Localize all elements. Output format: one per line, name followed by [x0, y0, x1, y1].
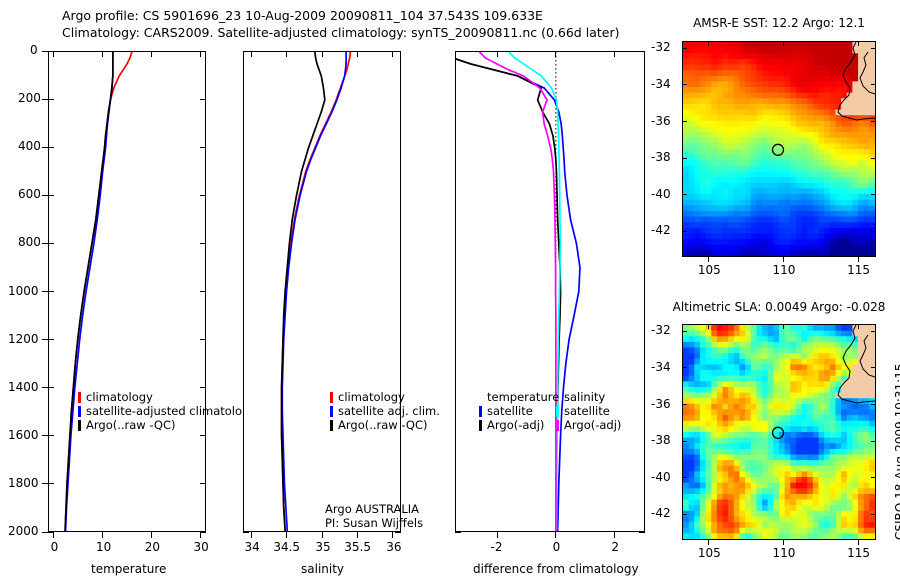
legend-swatch-climatology — [78, 392, 81, 403]
map-cell — [711, 115, 717, 121]
map-cell — [830, 183, 836, 189]
map-cell — [683, 93, 689, 99]
map-cell — [700, 505, 706, 511]
map-cell — [762, 104, 768, 110]
map-cell — [864, 471, 870, 477]
map-cell — [796, 404, 802, 410]
map-cell — [762, 477, 768, 483]
map-cell — [723, 98, 729, 104]
map-cell — [751, 126, 757, 132]
map-cell — [728, 188, 734, 194]
map-cell — [858, 500, 864, 506]
map-cell — [756, 81, 762, 87]
map-cell — [717, 516, 723, 522]
map-cell — [807, 359, 813, 365]
map-cell — [830, 70, 836, 76]
map-cell — [813, 200, 819, 206]
map-cell — [683, 421, 689, 427]
map-cell — [852, 364, 858, 370]
map-cell — [813, 98, 819, 104]
map-cell — [864, 233, 870, 239]
map-cell — [824, 359, 830, 365]
map-cell — [835, 376, 841, 382]
map-cell — [819, 166, 825, 172]
map-cell — [869, 138, 875, 144]
map-cell — [762, 59, 768, 65]
map-cell — [841, 494, 847, 500]
temperature-axis-label: temperature — [91, 562, 166, 576]
map-cell — [762, 188, 768, 194]
map-cell — [706, 65, 712, 71]
map-cell — [728, 393, 734, 399]
map-cell — [779, 205, 785, 211]
map-cell — [694, 70, 700, 76]
map-cell — [847, 183, 853, 189]
map-cell — [813, 471, 819, 477]
map-cell — [734, 211, 740, 217]
map-cell — [768, 121, 774, 127]
map-cell — [751, 421, 757, 427]
map-y-tick-label: -42 — [651, 223, 671, 237]
map-cell — [790, 381, 796, 387]
map-cell — [694, 421, 700, 427]
map-cell — [813, 477, 819, 483]
map-cell — [864, 533, 870, 539]
map-cell — [745, 376, 751, 382]
map-cell — [864, 166, 870, 172]
map-cell — [739, 505, 745, 511]
map-cell — [728, 53, 734, 59]
map-x-tick-top — [708, 324, 709, 329]
map-cell — [773, 449, 779, 455]
map-cell — [869, 53, 875, 59]
map-cell — [813, 104, 819, 110]
map-cell — [841, 421, 847, 427]
map-cell — [745, 143, 751, 149]
map-cell — [813, 143, 819, 149]
map-cell — [728, 81, 734, 87]
map-cell — [796, 228, 802, 234]
map-cell — [700, 228, 706, 234]
map-cell — [700, 194, 706, 200]
map-cell — [869, 522, 875, 528]
map-cell — [773, 217, 779, 223]
map-cell — [858, 438, 864, 444]
depth-tick-inner — [48, 291, 54, 292]
map-cell — [835, 455, 841, 461]
map-cell — [768, 87, 774, 93]
map-cell — [824, 387, 830, 393]
map-cell — [802, 409, 808, 415]
map-cell — [824, 393, 830, 399]
map-cell — [802, 138, 808, 144]
map-cell — [762, 76, 768, 82]
map-cell — [751, 342, 757, 348]
map-cell — [717, 409, 723, 415]
map-cell — [728, 245, 734, 251]
map-cell — [689, 59, 695, 65]
map-cell — [813, 155, 819, 161]
map-cell — [706, 250, 712, 256]
map-cell — [847, 70, 853, 76]
map-cell — [813, 177, 819, 183]
map-cell — [864, 81, 870, 87]
map-cell — [830, 460, 836, 466]
map-cell — [756, 387, 762, 393]
map-cell — [779, 121, 785, 127]
map-cell — [841, 121, 847, 127]
map-cell — [768, 228, 774, 234]
map-cell — [734, 477, 740, 483]
map-cell — [773, 381, 779, 387]
map-cell — [785, 466, 791, 472]
map-cell — [739, 432, 745, 438]
map-cell — [830, 477, 836, 483]
map-cell — [683, 233, 689, 239]
map-cell — [802, 121, 808, 127]
legend-item: Argo(..raw -QC) — [78, 418, 213, 432]
map-cell — [824, 126, 830, 132]
map-cell — [835, 415, 841, 421]
map-cell — [768, 239, 774, 245]
map-cell — [745, 488, 751, 494]
map-cell — [717, 415, 723, 421]
map-cell — [762, 53, 768, 59]
map-cell — [819, 533, 825, 539]
map-cell — [723, 432, 729, 438]
map-cell — [830, 87, 836, 93]
salinity-panel[interactable] — [243, 51, 401, 532]
map-cell — [796, 359, 802, 365]
map-cell — [835, 143, 841, 149]
map-cell — [768, 516, 774, 522]
map-cell — [734, 87, 740, 93]
map-cell — [813, 70, 819, 76]
map-cell — [869, 143, 875, 149]
map-cell — [689, 353, 695, 359]
map-cell — [700, 342, 706, 348]
map-cell — [813, 65, 819, 71]
map-cell — [802, 143, 808, 149]
map-cell — [835, 87, 841, 93]
map-cell — [841, 404, 847, 410]
map-cell — [824, 477, 830, 483]
map-cell — [835, 398, 841, 404]
map-cell — [751, 409, 757, 415]
map-cell — [802, 233, 808, 239]
map-cell — [694, 505, 700, 511]
sla-map[interactable] — [682, 324, 876, 540]
map-cell — [745, 533, 751, 539]
map-cell — [762, 398, 768, 404]
map-cell — [847, 149, 853, 155]
map-cell — [745, 426, 751, 432]
map-cell — [802, 438, 808, 444]
map-cell — [841, 200, 847, 206]
difference-axis-label: difference from climatology — [473, 562, 639, 576]
map-cell — [773, 393, 779, 399]
map-cell — [807, 533, 813, 539]
sst-map[interactable] — [682, 41, 876, 257]
map-cell — [852, 438, 858, 444]
map-cell — [728, 177, 734, 183]
map-cell — [864, 387, 870, 393]
map-cell — [689, 53, 695, 59]
map-cell — [779, 250, 785, 256]
map-cell — [706, 364, 712, 370]
map-cell — [728, 516, 734, 522]
map-cell — [734, 104, 740, 110]
map-cell — [706, 528, 712, 534]
map-cell — [830, 115, 836, 121]
map-cell — [852, 205, 858, 211]
map-cell — [790, 336, 796, 342]
map-cell — [807, 471, 813, 477]
map-cell — [824, 138, 830, 144]
map-cell — [864, 477, 870, 483]
map-cell — [694, 359, 700, 365]
map-cell — [745, 477, 751, 483]
map-cell — [706, 494, 712, 500]
map-cell — [852, 160, 858, 166]
map-cell — [711, 211, 717, 217]
map-cell — [711, 404, 717, 410]
map-cell — [700, 239, 706, 245]
map-cell — [689, 522, 695, 528]
map-cell — [773, 488, 779, 494]
map-cell — [734, 466, 740, 472]
map-cell — [762, 505, 768, 511]
map-cell — [773, 353, 779, 359]
map-cell — [689, 121, 695, 127]
map-cell — [802, 336, 808, 342]
temperature-panel[interactable] — [48, 51, 206, 532]
map-cell — [779, 404, 785, 410]
depth-tick-inner — [48, 195, 54, 196]
map-cell — [689, 143, 695, 149]
x-tick — [200, 532, 201, 538]
depth-tick-mirror — [200, 387, 206, 388]
legend-swatch-argo — [330, 420, 333, 431]
map-cell — [819, 194, 825, 200]
map-cell — [790, 143, 796, 149]
map-cell — [807, 516, 813, 522]
map-cell — [824, 533, 830, 539]
map-cell — [751, 233, 757, 239]
map-cell — [841, 222, 847, 228]
map-y-tick — [682, 477, 687, 478]
map-cell — [847, 511, 853, 517]
map-cell — [711, 200, 717, 206]
map-cell — [762, 132, 768, 138]
map-cell — [756, 438, 762, 444]
map-cell — [756, 494, 762, 500]
map-cell — [751, 336, 757, 342]
map-cell — [790, 65, 796, 71]
map-cell — [728, 494, 734, 500]
map-cell — [807, 250, 813, 256]
map-cell — [762, 70, 768, 76]
map-cell — [728, 364, 734, 370]
map-cell — [711, 48, 717, 54]
map-cell — [807, 528, 813, 534]
map-cell — [841, 42, 847, 48]
map-cell — [717, 528, 723, 534]
map-cell — [790, 370, 796, 376]
map-cell — [683, 166, 689, 172]
map-cell — [796, 121, 802, 127]
map-cell — [796, 488, 802, 494]
map-cell — [756, 65, 762, 71]
map-cell — [785, 155, 791, 161]
map-cell — [723, 398, 729, 404]
map-cell — [830, 166, 836, 172]
map-cell — [858, 466, 864, 472]
map-cell — [835, 250, 841, 256]
map-cell — [689, 359, 695, 365]
map-cell — [717, 239, 723, 245]
map-cell — [802, 505, 808, 511]
map-cell — [734, 393, 740, 399]
map-cell — [700, 211, 706, 217]
map-cell — [802, 376, 808, 382]
map-cell — [852, 455, 858, 461]
map-cell — [700, 132, 706, 138]
map-cell — [768, 205, 774, 211]
map-cell — [683, 415, 689, 421]
map-cell — [734, 516, 740, 522]
map-cell — [711, 376, 717, 382]
map-cell — [751, 500, 757, 506]
map-cell — [751, 432, 757, 438]
map-cell — [802, 76, 808, 82]
map-cell — [751, 194, 757, 200]
map-cell — [723, 455, 729, 461]
map-cell — [711, 228, 717, 234]
map-cell — [706, 471, 712, 477]
map-cell — [830, 522, 836, 528]
map-cell — [819, 115, 825, 121]
x-tick-top — [614, 51, 615, 57]
map-cell — [739, 160, 745, 166]
map-cell — [739, 110, 745, 116]
map-cell — [751, 245, 757, 251]
map-cell — [858, 59, 864, 65]
depth-tick-mirror — [200, 99, 206, 100]
map-cell — [796, 443, 802, 449]
map-cell — [785, 455, 791, 461]
map-cell — [683, 245, 689, 251]
map-cell — [841, 432, 847, 438]
map-cell — [779, 98, 785, 104]
map-cell — [858, 205, 864, 211]
map-cell — [739, 331, 745, 337]
map-cell — [723, 42, 729, 48]
map-cell — [711, 42, 717, 48]
map-cell — [739, 200, 745, 206]
map-cell — [802, 65, 808, 71]
map-cell — [694, 466, 700, 472]
map-cell — [683, 426, 689, 432]
map-cell — [728, 376, 734, 382]
map-cell — [835, 331, 841, 337]
map-cell — [813, 348, 819, 354]
map-cell — [785, 522, 791, 528]
map-cell — [779, 359, 785, 365]
map-cell — [756, 376, 762, 382]
map-cell — [864, 149, 870, 155]
map-cell — [700, 250, 706, 256]
map-cell — [694, 443, 700, 449]
map-cell — [819, 76, 825, 82]
map-cell — [694, 511, 700, 517]
map-cell — [683, 149, 689, 155]
map-cell — [706, 200, 712, 206]
map-cell — [869, 239, 875, 245]
map-cell — [694, 370, 700, 376]
map-cell — [745, 409, 751, 415]
map-y-tick — [682, 121, 687, 122]
map-cell — [785, 342, 791, 348]
map-cell — [864, 449, 870, 455]
map-x-tick-label: 105 — [698, 546, 721, 560]
map-cell — [700, 404, 706, 410]
map-cell — [728, 155, 734, 161]
map-cell — [796, 250, 802, 256]
map-cell — [700, 104, 706, 110]
map-cell — [739, 222, 745, 228]
map-cell — [734, 398, 740, 404]
difference-panel[interactable] — [455, 51, 645, 532]
map-cell — [790, 516, 796, 522]
map-cell — [717, 138, 723, 144]
map-cell — [858, 121, 864, 127]
map-cell — [694, 233, 700, 239]
map-cell — [869, 104, 875, 110]
map-cell — [835, 233, 841, 239]
map-cell — [858, 505, 864, 511]
map-cell — [768, 183, 774, 189]
map-cell — [830, 76, 836, 82]
map-cell — [864, 228, 870, 234]
map-cell — [689, 172, 695, 178]
map-cell — [802, 432, 808, 438]
map-cell — [847, 466, 853, 472]
map-cell — [751, 443, 757, 449]
map-cell — [819, 172, 825, 178]
map-cell — [683, 217, 689, 223]
map-cell — [723, 449, 729, 455]
map-cell — [751, 466, 757, 472]
map-cell — [790, 200, 796, 206]
map-cell — [683, 342, 689, 348]
map-cell — [739, 438, 745, 444]
map-cell — [717, 336, 723, 342]
map-cell — [734, 53, 740, 59]
map-cell — [694, 477, 700, 483]
map-cell — [779, 393, 785, 399]
map-cell — [683, 250, 689, 256]
map-cell — [706, 336, 712, 342]
map-cell — [751, 415, 757, 421]
map-cell — [745, 110, 751, 116]
map-cell — [689, 533, 695, 539]
map-x-tick-label: 115 — [847, 263, 870, 277]
map-cell — [694, 143, 700, 149]
map-cell — [807, 222, 813, 228]
map-cell — [706, 48, 712, 54]
map-cell — [864, 483, 870, 489]
